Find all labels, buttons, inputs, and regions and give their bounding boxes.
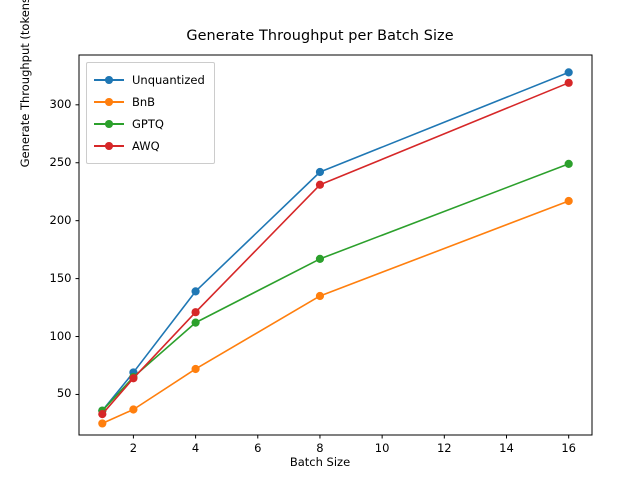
x-tick-label: 8 [300, 441, 340, 455]
data-point-marker [565, 197, 573, 205]
data-point-marker [98, 410, 106, 418]
legend-item-bnb: BnB [94, 91, 205, 113]
chart-figure: Generate Throughput per Batch Size Batch… [0, 0, 640, 480]
chart-legend: UnquantizedBnBGPTQAWQ [86, 62, 215, 164]
y-axis-label: Generate Throughput (tokens/s) [18, 0, 32, 245]
x-tick-label: 4 [176, 441, 216, 455]
y-tick-label: 250 [32, 155, 72, 169]
legend-label: AWQ [132, 139, 160, 153]
data-point-marker [316, 292, 324, 300]
data-point-marker [129, 405, 137, 413]
series-line-gptq [102, 164, 568, 411]
y-tick-label: 100 [32, 329, 72, 343]
data-point-marker [129, 374, 137, 382]
data-point-marker [565, 68, 573, 76]
data-point-marker [565, 79, 573, 87]
x-tick-label: 2 [113, 441, 153, 455]
legend-item-gptq: GPTQ [94, 113, 205, 135]
legend-item-awq: AWQ [94, 135, 205, 157]
y-tick-label: 200 [32, 213, 72, 227]
data-point-marker [316, 181, 324, 189]
data-point-marker [191, 319, 199, 327]
x-tick-label: 6 [238, 441, 278, 455]
y-tick-label: 300 [32, 97, 72, 111]
data-point-marker [98, 419, 106, 427]
y-tick-label: 50 [32, 386, 72, 400]
legend-marker-icon [94, 139, 124, 153]
data-point-marker [191, 287, 199, 295]
data-point-marker [316, 168, 324, 176]
legend-marker-icon [94, 117, 124, 131]
series-line-bnb [102, 201, 568, 423]
legend-marker-icon [94, 73, 124, 87]
data-point-marker [565, 160, 573, 168]
data-point-marker [316, 255, 324, 263]
legend-label: Unquantized [132, 73, 205, 87]
legend-marker-icon [94, 95, 124, 109]
data-point-marker [191, 308, 199, 316]
x-tick-label: 14 [487, 441, 527, 455]
legend-item-unquantized: Unquantized [94, 69, 205, 91]
x-tick-label: 12 [424, 441, 464, 455]
x-axis-label: Batch Size [0, 455, 640, 469]
legend-label: GPTQ [132, 117, 164, 131]
x-tick-label: 10 [362, 441, 402, 455]
legend-label: BnB [132, 95, 155, 109]
y-tick-label: 150 [32, 271, 72, 285]
x-tick-label: 16 [549, 441, 589, 455]
data-point-marker [191, 365, 199, 373]
